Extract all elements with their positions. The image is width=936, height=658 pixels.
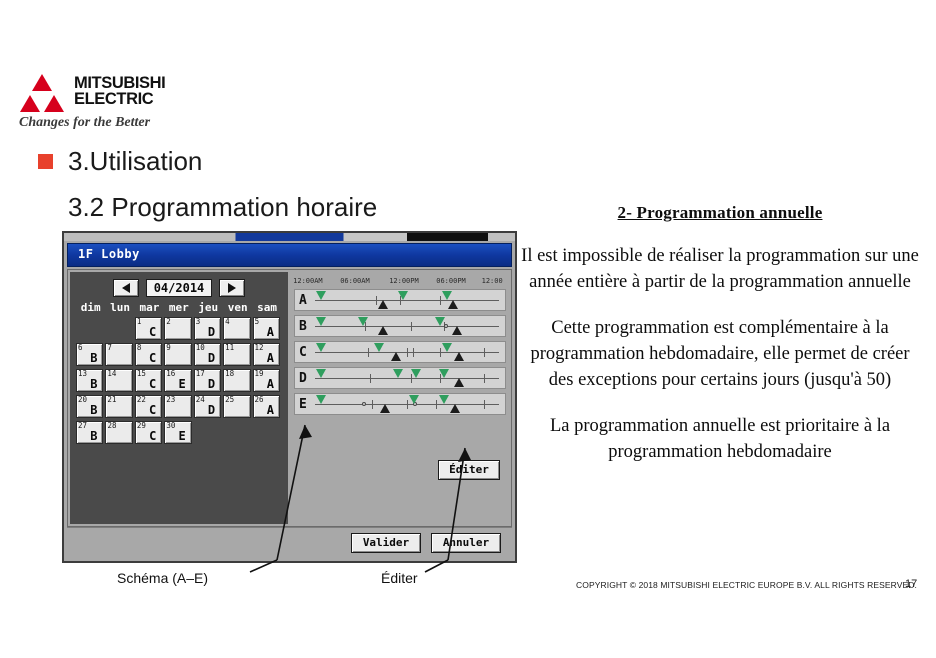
calendar-day-number: 16 (166, 369, 175, 378)
next-month-button[interactable] (219, 279, 245, 297)
calendar-day-cell[interactable]: 14 (105, 369, 132, 392)
page-number: 17 (905, 578, 917, 590)
schedule-row-label: B (299, 319, 307, 334)
schedule-time-label: 12:00PM (389, 277, 419, 285)
calendar-pattern-label: B (90, 403, 97, 417)
calendar-day-cell[interactable]: 30E (164, 421, 191, 444)
schedule-start-marker[interactable] (409, 395, 419, 404)
calendar-day-number: 5 (255, 317, 260, 326)
calendar-day-number: 29 (137, 421, 146, 430)
calendar-pattern-label: D (208, 351, 215, 365)
calendar-pattern-label: C (149, 351, 156, 365)
controller-screenshot-panel: 1F Lobby 04/2014 dimlunmarmerjeuvensam 1… (62, 231, 517, 563)
calendar-day-cell[interactable]: 25 (223, 395, 250, 418)
paragraph-3: La programmation annuelle est prioritair… (520, 413, 920, 465)
schedule-start-marker[interactable] (316, 395, 326, 404)
schedule-start-marker[interactable] (316, 343, 326, 352)
schedule-start-marker[interactable] (411, 369, 421, 378)
calendar-day-cell[interactable]: 27B (76, 421, 103, 444)
calendar-day-cell[interactable]: 9 (164, 343, 191, 366)
schedule-start-marker[interactable] (442, 291, 452, 300)
schedule-row-label: A (299, 293, 307, 308)
calendar-day-number: 10 (196, 343, 205, 352)
calendar-day-number: 25 (225, 395, 234, 404)
page-title: 3.Utilisation (68, 146, 202, 177)
schedule-start-marker[interactable] (435, 317, 445, 326)
calendar-pattern-label: A (267, 377, 274, 391)
validate-button[interactable]: Valider (351, 533, 421, 553)
schedule-tick (484, 348, 485, 357)
schedule-time-label: 12:00AM (293, 277, 323, 285)
schedule-start-marker[interactable] (398, 291, 408, 300)
schedule-tick (411, 322, 412, 331)
schedule-track[interactable] (315, 404, 499, 405)
calendar-day-number: 13 (78, 369, 87, 378)
schedule-stop-marker[interactable] (378, 326, 388, 335)
calendar-day-cell[interactable]: 10D (194, 343, 221, 366)
calendar-day-cell[interactable]: 26A (253, 395, 280, 418)
calendar-empty-cell (105, 317, 132, 340)
calendar-day-cell[interactable]: 29C (135, 421, 162, 444)
calendar-day-number: 11 (225, 343, 234, 352)
schedule-region: 12:00AM06:00AM12:00PM06:00PM12:00 ABCDE … (290, 272, 509, 524)
calendar-empty-cell (194, 421, 221, 444)
chevron-left-icon (122, 283, 130, 293)
device-body: 04/2014 dimlunmarmerjeuvensam 1C23D45A6B… (67, 269, 512, 527)
calendar-pattern-label: B (90, 429, 97, 443)
schedule-start-marker[interactable] (316, 317, 326, 326)
cancel-button[interactable]: Annuler (431, 533, 501, 553)
calendar-day-number: 19 (255, 369, 264, 378)
schedule-track[interactable] (315, 352, 499, 353)
calendar-day-header: mar (135, 301, 164, 314)
schedule-start-marker[interactable] (393, 369, 403, 378)
page-subtitle: 3.2 Programmation horaire (68, 192, 377, 223)
calendar-day-cell[interactable]: 11 (223, 343, 250, 366)
calendar-day-number: 12 (255, 343, 264, 352)
calendar-pattern-label: B (90, 351, 97, 365)
calendar-day-number: 21 (107, 395, 116, 404)
calendar-day-cell[interactable]: 6B (76, 343, 103, 366)
chevron-right-icon (228, 283, 236, 293)
calendar-day-number: 1 (137, 317, 142, 326)
prev-month-button[interactable] (113, 279, 139, 297)
schedule-row-label: C (299, 345, 307, 360)
calendar-day-cell[interactable]: 8C (135, 343, 162, 366)
logo-wordmark: MITSUBISHI ELECTRIC (74, 75, 165, 107)
explanatory-text-column: 2- Programmation annuelle Il est impossi… (520, 203, 920, 485)
calendar-day-header: mer (164, 301, 193, 314)
calendar-day-cell[interactable]: 20B (76, 395, 103, 418)
schedule-stop-marker[interactable] (450, 404, 460, 413)
schedule-row-label: D (299, 371, 307, 386)
calendar-pattern-label: C (149, 377, 156, 391)
schedule-tick (436, 400, 437, 409)
calendar-pattern-label: A (267, 403, 274, 417)
calendar-day-number: 8 (137, 343, 142, 352)
schedule-stop-marker[interactable] (454, 378, 464, 387)
calendar-day-header: jeu (194, 301, 223, 314)
window-chrome-strip (64, 233, 515, 241)
calendar-day-number: 22 (137, 395, 146, 404)
calendar-day-headers: dimlunmarmerjeuvensam (76, 301, 282, 314)
calendar-day-header: lun (105, 301, 134, 314)
calendar-week-row: 20B2122C2324D2526A (76, 395, 282, 419)
copyright-notice: COPYRIGHT © 2018 MITSUBISHI ELECTRIC EUR… (576, 580, 917, 590)
calendar-region: 04/2014 dimlunmarmerjeuvensam 1C23D45A6B… (70, 272, 288, 524)
calendar-day-cell[interactable]: 24D (194, 395, 221, 418)
schedule-track[interactable] (315, 326, 499, 327)
calendar-day-number: 28 (107, 421, 116, 430)
calendar-nav: 04/2014 (70, 278, 288, 298)
schedule-tick (413, 348, 414, 357)
schedule-tick (372, 400, 373, 409)
schedule-stop-marker[interactable] (391, 352, 401, 361)
logo-wordmark-line2: ELECTRIC (74, 91, 165, 107)
calendar-day-cell[interactable]: 19A (253, 369, 280, 392)
calendar-day-number: 9 (166, 343, 171, 352)
schedule-track[interactable] (315, 300, 499, 301)
schedule-tick (376, 296, 377, 305)
calendar-day-cell[interactable]: 2 (164, 317, 191, 340)
calendar-day-header: ven (223, 301, 252, 314)
calendar-day-number: 15 (137, 369, 146, 378)
schedule-stop-marker[interactable] (448, 300, 458, 309)
calendar-day-number: 17 (196, 369, 205, 378)
device-titlebar: 1F Lobby (67, 243, 512, 267)
calendar-day-number: 4 (225, 317, 230, 326)
mitsubishi-diamonds-icon (18, 74, 66, 114)
device-title: 1F Lobby (78, 247, 140, 261)
schedule-tick (440, 296, 441, 305)
schedule-start-marker[interactable] (442, 343, 452, 352)
calendar-pattern-label: C (149, 325, 156, 339)
schedule-row[interactable]: E (294, 393, 506, 415)
calendar-week-row: 6B78C910D1112A (76, 343, 282, 367)
calendar-empty-cell (253, 421, 280, 444)
calendar-day-cell[interactable]: 3D (194, 317, 221, 340)
schedule-tick (484, 400, 485, 409)
calendar-day-number: 2 (166, 317, 171, 326)
schedule-row[interactable]: B (294, 315, 506, 337)
schedule-rows: ABCDE (294, 289, 506, 419)
calendar-empty-cell (76, 317, 103, 340)
calendar-day-number: 27 (78, 421, 87, 430)
calendar-day-number: 20 (78, 395, 87, 404)
schedule-row[interactable]: D (294, 367, 506, 389)
schedule-time-label: 06:00PM (436, 277, 466, 285)
calendar-day-cell[interactable]: 13B (76, 369, 103, 392)
calendar-pattern-label: D (208, 403, 215, 417)
calendar-day-cell[interactable]: 23 (164, 395, 191, 418)
schedule-stop-marker[interactable] (454, 352, 464, 361)
calendar-day-cell[interactable]: 18 (223, 369, 250, 392)
schedule-start-marker[interactable] (358, 317, 368, 326)
calendar-day-header: dim (76, 301, 105, 314)
schedule-row[interactable]: C (294, 341, 506, 363)
edit-button[interactable]: Éditer (438, 460, 500, 480)
calendar-empty-cell (223, 421, 250, 444)
schedule-tick (368, 348, 369, 357)
calendar-pattern-label: A (267, 351, 274, 365)
calendar-day-cell[interactable]: 17D (194, 369, 221, 392)
calendar-day-cell[interactable]: 7 (105, 343, 132, 366)
calendar-pattern-label: D (208, 377, 215, 391)
calendar-pattern-label: C (149, 429, 156, 443)
paragraph-1: Il est impossible de réaliser la program… (520, 243, 920, 295)
calendar-pattern-label: E (179, 429, 186, 443)
schedule-start-marker[interactable] (439, 395, 449, 404)
section-title: 2- Programmation annuelle (520, 203, 920, 223)
calendar-pattern-label: D (208, 325, 215, 339)
calendar-day-cell[interactable]: 22C (135, 395, 162, 418)
schedule-start-marker[interactable] (439, 369, 449, 378)
schedule-stop-marker[interactable] (452, 326, 462, 335)
calendar-day-number: 3 (196, 317, 201, 326)
mitsubishi-electric-logo: MITSUBISHI ELECTRIC Changes for the Bett… (18, 72, 193, 130)
schedule-tick (407, 348, 408, 357)
calendar-week-row: 13B1415C16E17D1819A (76, 369, 282, 393)
schedule-start-marker[interactable] (374, 343, 384, 352)
month-year-display[interactable]: 04/2014 (146, 279, 212, 297)
schedule-start-marker[interactable] (316, 369, 326, 378)
calendar-day-number: 30 (166, 421, 175, 430)
schedule-time-label: 06:00AM (340, 277, 370, 285)
calendar-day-cell[interactable]: 1C (135, 317, 162, 340)
schedule-start-marker[interactable] (316, 291, 326, 300)
schedule-row[interactable]: A (294, 289, 506, 311)
schedule-track[interactable] (315, 378, 499, 379)
paragraph-2: Cette programmation est complémentaire à… (520, 315, 920, 393)
schedule-tick (407, 400, 408, 409)
device-footer: Valider Annuler (67, 527, 512, 558)
calendar-day-number: 14 (107, 369, 116, 378)
logo-tagline: Changes for the Better (19, 115, 150, 131)
schedule-time-axis: 12:00AM06:00AM12:00PM06:00PM12:00 (304, 277, 500, 289)
annotation-label-editer: Éditer (381, 570, 418, 586)
heading-bullet-square (38, 154, 53, 169)
calendar-pattern-label: B (90, 377, 97, 391)
calendar-day-cell[interactable]: 4 (223, 317, 250, 340)
schedule-time-label: 12:00 (482, 277, 503, 285)
calendar-week-row: 1C23D45A (76, 317, 282, 341)
calendar-day-cell[interactable]: 21 (105, 395, 132, 418)
calendar-pattern-label: E (178, 377, 185, 391)
schedule-stop-marker[interactable] (378, 300, 388, 309)
calendar-day-cell[interactable]: 16E (164, 369, 191, 392)
calendar-day-cell[interactable]: 28 (105, 421, 132, 444)
logo-wordmark-line1: MITSUBISHI (74, 75, 165, 91)
calendar-day-number: 23 (166, 395, 175, 404)
schedule-row-label: E (299, 397, 307, 412)
calendar-week-row: 27B2829C30E (76, 421, 282, 445)
calendar-day-number: 26 (255, 395, 264, 404)
schedule-circle-marker (362, 402, 366, 406)
schedule-stop-marker[interactable] (380, 404, 390, 413)
calendar-day-cell[interactable]: 15C (135, 369, 162, 392)
calendar-day-number: 6 (78, 343, 83, 352)
calendar-grid: 1C23D45A6B78C910D1112A13B1415C16E17D1819… (76, 317, 282, 447)
schedule-tick (370, 374, 371, 383)
calendar-day-number: 18 (225, 369, 234, 378)
calendar-day-number: 24 (196, 395, 205, 404)
calendar-day-cell[interactable]: 12A (253, 343, 280, 366)
calendar-pattern-label: A (267, 325, 274, 339)
schedule-tick (484, 374, 485, 383)
schedule-tick (440, 348, 441, 357)
calendar-day-number: 7 (107, 343, 112, 352)
calendar-day-header: sam (252, 301, 281, 314)
annotation-label-schema: Schéma (A–E) (117, 570, 208, 586)
calendar-pattern-label: C (149, 403, 156, 417)
calendar-day-cell[interactable]: 5A (253, 317, 280, 340)
